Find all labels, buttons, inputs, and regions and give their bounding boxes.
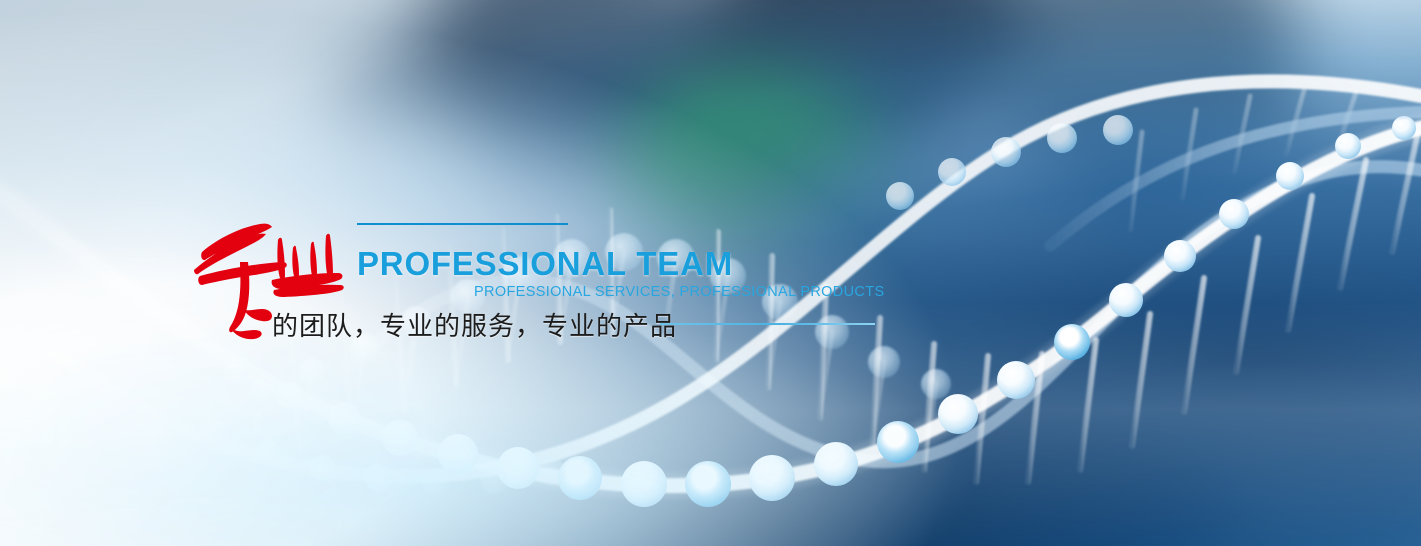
decorative-rule-top (357, 223, 568, 225)
banner-subtitle-english: PROFESSIONAL SERVICES, PROFESSIONAL PROD… (474, 284, 884, 300)
banner-content: PROFESSIONAL TEAM PROFESSIONAL SERVICES,… (0, 0, 1421, 546)
promotional-banner: PROFESSIONAL TEAM PROFESSIONAL SERVICES,… (0, 0, 1421, 546)
banner-title-english: PROFESSIONAL TEAM (357, 245, 733, 283)
banner-tagline-chinese: 的团队，专业的服务，专业的产品 (272, 306, 677, 343)
decorative-rule-bottom (660, 323, 875, 325)
